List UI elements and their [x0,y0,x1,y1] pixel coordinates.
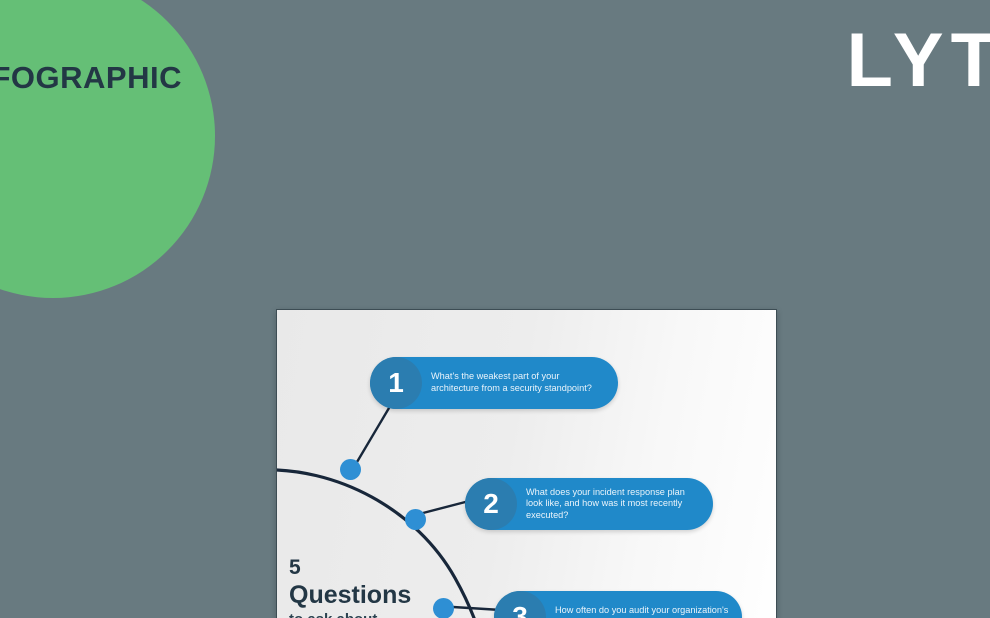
question-text-3: How often do you audit your organization… [546,605,742,618]
infographic-badge-label: INFOGRAPHIC [0,60,182,96]
arc-node-3 [433,598,454,618]
question-number-2: 2 [465,478,517,530]
question-text-1: What's the weakest part of your architec… [422,371,618,394]
question-pill-2: 2 What does your incident response plan … [465,478,713,530]
infographic-badge-circle [0,0,215,298]
brand-wordmark: LYT [846,23,990,99]
question-pill-1: 1 What's the weakest part of your archit… [370,357,618,409]
document-canvas: 5 Questions to ask about 1 What's the we… [277,310,776,618]
question-pill-3: 3 How often do you audit your organizati… [494,591,742,618]
arc-node-2 [405,509,426,530]
arc-node-1 [340,459,361,480]
screenshot-stage: INFOGRAPHIC LYT 5 Questions to ask about… [0,0,990,618]
document-preview-card[interactable]: 5 Questions to ask about 1 What's the we… [276,309,777,618]
question-text-2: What does your incident response plan lo… [517,487,713,522]
question-number-1: 1 [370,357,422,409]
